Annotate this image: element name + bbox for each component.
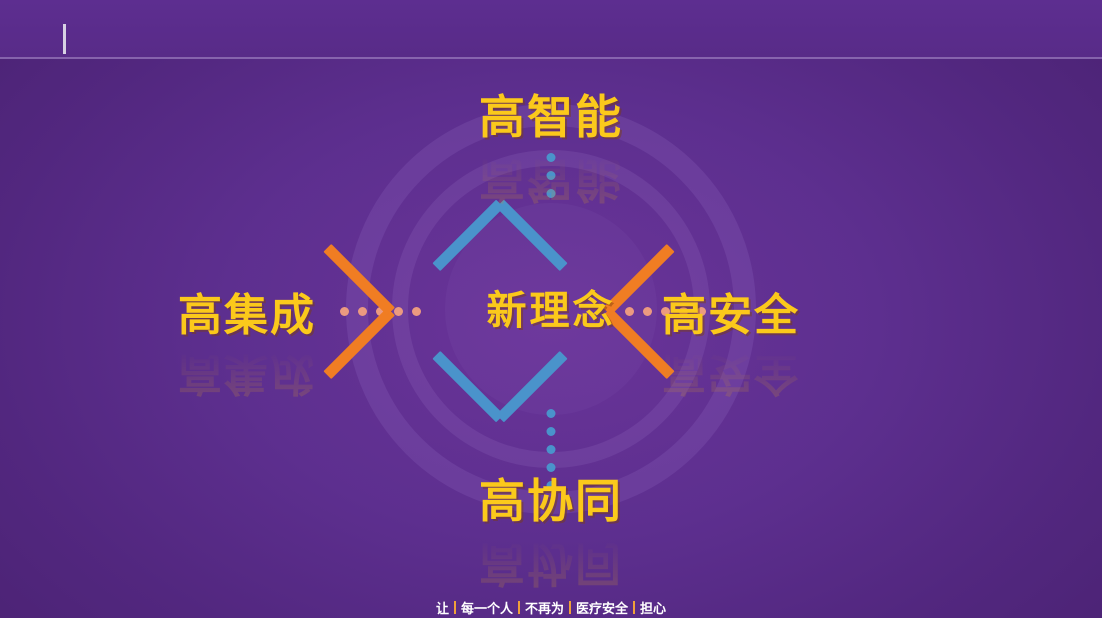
footer-separator xyxy=(518,601,520,614)
connector-dot xyxy=(412,307,421,316)
diagram-node-right-label: 高安全 xyxy=(662,291,800,340)
diagram-node-top-label: 高智能 xyxy=(479,91,623,143)
diagram-node-bottom-label: 高协同 xyxy=(479,475,623,527)
footer-part: 医疗安全 xyxy=(576,598,628,617)
footer-separator xyxy=(633,601,635,614)
diagram-node-bottom: 高协同 高协同 xyxy=(479,465,623,600)
connector-dot xyxy=(340,307,349,316)
footer-part: 每一个人 xyxy=(461,598,513,617)
diagram-node-top-reflection: 高智能 xyxy=(479,150,623,216)
connector-dot xyxy=(376,307,385,316)
diagram-node-left-label: 高集成 xyxy=(178,291,316,340)
connector-dots-left xyxy=(340,307,421,316)
diagram-stage: 新理念 高智能 高智能 高集成 高集成 高安全 高安全 高协同 高协同 xyxy=(0,57,1102,618)
diagram-node-left: 高集成 高集成 xyxy=(178,279,316,410)
footer-slogan: 让 每一个人 不再为 医疗安全 担心 xyxy=(0,598,1102,617)
footer-separator xyxy=(569,601,571,614)
diagram-node-left-reflection: 高集成 xyxy=(178,346,316,410)
diagram-node-right-reflection: 高安全 xyxy=(662,346,800,410)
connector-dot xyxy=(547,427,556,436)
connector-dot xyxy=(547,409,556,418)
header-divider-line xyxy=(0,57,1102,59)
connector-dot xyxy=(358,307,367,316)
diagram-center-label: 新理念 xyxy=(487,278,616,336)
diagram-node-top: 高智能 高智能 xyxy=(479,81,623,216)
diagram-node-right: 高安全 高安全 xyxy=(662,279,800,410)
header-logo-divider xyxy=(63,24,66,54)
connector-dot xyxy=(625,307,634,316)
connector-dot xyxy=(394,307,403,316)
footer-part: 让 xyxy=(436,598,449,617)
footer-part: 不再为 xyxy=(525,598,564,617)
footer-separator xyxy=(454,601,456,614)
diagram-node-bottom-reflection: 高协同 xyxy=(479,534,623,600)
connector-dot xyxy=(547,445,556,454)
slide-canvas: 产品理念：智能、安全、用户体验 德睿康 AI Innovation Safty … xyxy=(0,0,1102,618)
footer-part: 担心 xyxy=(640,598,666,617)
connector-dot xyxy=(643,307,652,316)
header-bar xyxy=(0,0,1102,57)
